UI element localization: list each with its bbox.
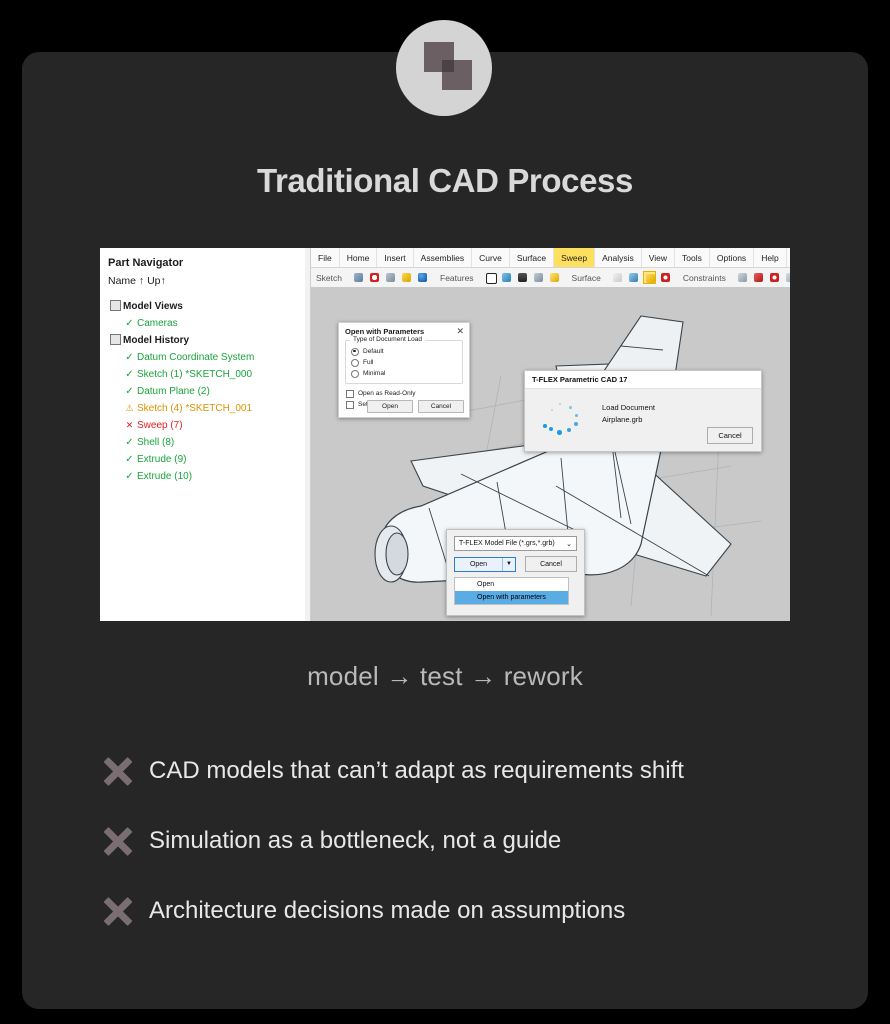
icon-glyph — [502, 273, 511, 282]
list-item-label: Simulation as a bottleneck, not a guide — [149, 827, 561, 855]
open-button-row: Open ▼ Cancel — [454, 556, 577, 572]
toolbar-group-label-surface: Surface — [567, 273, 606, 283]
cad-viewport: FileHomeInsertAssembliesCurveSurfaceSwee… — [311, 248, 790, 621]
radio-label: Full — [363, 359, 373, 366]
checkbox-indicator — [346, 390, 354, 398]
list-item-label: CAD models that can’t adapt as requireme… — [149, 757, 684, 785]
box-icon[interactable] — [484, 271, 497, 284]
menu-item-open[interactable]: Open — [455, 578, 568, 591]
radio-label: Minimal — [363, 370, 385, 377]
cad-ribbon: FileHomeInsertAssembliesCurveSurfaceSwee… — [311, 248, 790, 288]
toolbar-group-label-features: Features — [435, 273, 479, 283]
group-label: Type of Document Load — [350, 336, 425, 343]
icon-glyph — [770, 273, 779, 282]
link-constraint-icon[interactable] — [736, 271, 749, 284]
icon-glyph — [370, 273, 379, 282]
icon-glyph — [534, 273, 543, 282]
page-title: Traditional CAD Process — [0, 162, 890, 200]
radio-label: Default — [363, 348, 384, 355]
overlapping-squares-logo — [396, 20, 492, 116]
check-icon: ✓ — [122, 370, 137, 380]
tflex-loading-dialog: T-FLEX Parametric CAD 17 Load — [524, 370, 762, 452]
warning-icon: ⚠ — [122, 404, 137, 413]
icon-glyph — [386, 273, 395, 282]
tflex-dialog-body: Load Document Airplane.grb Cancel — [525, 389, 761, 451]
open-button[interactable]: Open — [455, 558, 502, 571]
radio-indicator — [351, 348, 359, 356]
cad-screenshot: Part Navigator Name ↑ Up↑ Model Views✓Ca… — [100, 248, 790, 621]
menu-item-curve[interactable]: Curve — [472, 248, 510, 267]
radio-full[interactable]: Full — [351, 357, 457, 368]
revolve-icon[interactable] — [500, 271, 513, 284]
tree-item[interactable]: Model Views — [106, 298, 310, 315]
dialog-buttons: Open Cancel — [367, 400, 464, 413]
menu-item-help[interactable]: Help — [754, 248, 786, 267]
tree-item[interactable]: Model History — [106, 332, 310, 349]
part-navigator-panel: Part Navigator Name ↑ Up↑ Model Views✓Ca… — [100, 248, 311, 621]
slide-stage: Traditional CAD Process Part Navigator N… — [0, 0, 890, 1024]
folder-icon — [108, 300, 123, 314]
icon-glyph — [354, 273, 363, 282]
icon-glyph — [613, 273, 622, 282]
tree-item[interactable]: ✓Extrude (9) — [106, 451, 310, 468]
surface-sheet-icon[interactable] — [611, 271, 624, 284]
open-split-button[interactable]: Open ▼ — [454, 557, 516, 572]
check-icon: ✓ — [122, 438, 137, 448]
tree-item[interactable]: ✓Shell (8) — [106, 434, 310, 451]
icon-glyph — [486, 273, 497, 284]
tree-item-label: Datum Coordinate System — [137, 352, 254, 363]
dialog-title: Open with Parameters — [345, 327, 424, 336]
tree-item-label: Model Views — [123, 301, 183, 312]
fix-constraint-icon[interactable] — [752, 271, 765, 284]
check-icon: ✓ — [122, 319, 137, 329]
sphere-icon[interactable] — [417, 271, 430, 284]
list-item: Architecture decisions made on assumptio… — [99, 876, 799, 946]
radio-minimal[interactable]: Minimal — [351, 368, 457, 379]
checkbox-indicator — [346, 401, 354, 409]
cad-menubar: FileHomeInsertAssembliesCurveSurfaceSwee… — [311, 248, 790, 268]
close-icon[interactable]: ✕ — [456, 327, 464, 336]
tree-item-label: Sweep (7) — [137, 420, 183, 431]
extrude-bar-icon[interactable] — [516, 271, 529, 284]
tree-item-label: Extrude (9) — [137, 454, 186, 465]
menu-item-open-with-parameters[interactable]: Open with parameters — [455, 591, 568, 604]
tree-item-label: Sketch (4) *SKETCH_001 — [137, 403, 252, 414]
bolt-icon[interactable] — [548, 271, 561, 284]
folder-icon — [108, 334, 123, 348]
part-navigator-tree: Model Views✓CamerasModel History✓Datum C… — [106, 298, 310, 485]
menu-item-surface[interactable]: Surface — [510, 248, 554, 267]
x-mark-icon — [99, 752, 137, 790]
open-button[interactable]: Open — [367, 400, 413, 413]
tree-item[interactable]: ✓Datum Coordinate System — [106, 349, 310, 366]
icon-glyph — [661, 273, 670, 282]
tree-item[interactable]: ✓Cameras — [106, 315, 310, 332]
icon-glyph — [738, 273, 747, 282]
menu-item-insert[interactable]: Insert — [377, 248, 413, 267]
x-mark-icon — [99, 822, 137, 860]
tree-item[interactable]: ✕Sweep (7) — [106, 417, 310, 434]
x-mark-icon — [99, 892, 137, 930]
radio-default[interactable]: Default — [351, 346, 457, 357]
check-icon: ✓ — [122, 455, 137, 465]
part-navigator-scrollbar[interactable] — [305, 248, 310, 621]
radio-indicator — [351, 370, 359, 378]
icon-glyph — [786, 273, 790, 282]
cad-toolbar: SketchFeaturesSurfaceConstraintsMo — [311, 268, 790, 288]
ruled-surface-icon[interactable] — [627, 271, 640, 284]
tree-item-label: Sketch (1) *SKETCH_000 — [137, 369, 252, 380]
tree-item[interactable]: ✓Extrude (10) — [106, 468, 310, 485]
tree-item[interactable]: ⚠Sketch (4) *SKETCH_001 — [106, 400, 310, 417]
menu-item-view[interactable]: View — [642, 248, 675, 267]
circle-icon[interactable] — [369, 271, 382, 284]
check-icon: ✓ — [122, 353, 137, 363]
line-icon[interactable] — [385, 271, 398, 284]
loading-spinner-icon — [543, 403, 583, 437]
tree-item-label: Model History — [123, 335, 189, 346]
menu-item-assemblies[interactable]: Assemblies — [414, 248, 472, 267]
check-icon: ✓ — [122, 387, 137, 397]
tree-item-label: Cameras — [137, 318, 178, 329]
list-item: CAD models that can’t adapt as requireme… — [99, 736, 799, 806]
part-navigator-title: Part Navigator — [106, 257, 310, 269]
icon-glyph — [402, 273, 411, 282]
open-with-parameters-dialog: Open with Parameters ✕ Type of Document … — [338, 322, 470, 418]
radio-indicator — [351, 359, 359, 367]
cancel-button[interactable]: Cancel — [418, 400, 464, 413]
file-type-select[interactable]: T-FLEX Model File (*.grs,*.grb) ⌄ — [454, 536, 577, 551]
icon-glyph — [754, 273, 763, 282]
sweep-surface-icon[interactable] — [643, 271, 656, 284]
sketch-angle-icon[interactable] — [353, 271, 366, 284]
icon-glyph — [418, 273, 427, 282]
logo-square-overlap — [442, 60, 454, 72]
part-navigator-sort[interactable]: Name ↑ Up↑ — [106, 269, 310, 287]
toolbar-group-label-sketch: Sketch — [311, 273, 347, 283]
file-type-value: T-FLEX Model File (*.grs,*.grb) — [459, 540, 555, 547]
toolbar-group-label-constraints: Constraints — [678, 273, 731, 283]
bullet-list: CAD models that can’t adapt as requireme… — [99, 736, 799, 946]
chevron-down-icon: ⌄ — [566, 540, 572, 548]
open-dropdown-menu: Open Open with parameters — [454, 577, 569, 605]
tflex-loading-line1: Load Document — [602, 402, 655, 414]
tree-item-label: Datum Plane (2) — [137, 386, 210, 397]
menu-item-analysis[interactable]: Analysis — [595, 248, 642, 267]
pencil-icon[interactable] — [401, 271, 414, 284]
taper-icon[interactable] — [532, 271, 545, 284]
process-flow-text: model → test → rework — [0, 661, 890, 692]
list-item-label: Architecture decisions made on assumptio… — [149, 897, 625, 925]
trim-surface-icon[interactable] — [659, 271, 672, 284]
icon-glyph — [629, 273, 638, 282]
icon-glyph — [550, 273, 559, 282]
checkbox-open-as-read-only[interactable]: Open as Read-Only — [339, 388, 469, 399]
tree-item-label: Extrude (10) — [137, 471, 192, 482]
list-item: Simulation as a bottleneck, not a guide — [99, 806, 799, 876]
open-dropdown-arrow-icon[interactable]: ▼ — [502, 558, 515, 571]
tflex-cancel-button[interactable]: Cancel — [707, 427, 753, 444]
tflex-loading-text: Load Document Airplane.grb — [602, 402, 655, 426]
tflex-loading-line2: Airplane.grb — [602, 414, 655, 426]
tree-item[interactable]: ✓Sketch (1) *SKETCH_000 — [106, 366, 310, 383]
menu-item-tools[interactable]: Tools — [675, 248, 710, 267]
tree-item[interactable]: ✓Datum Plane (2) — [106, 383, 310, 400]
menu-item-sweep[interactable]: Sweep — [554, 248, 595, 267]
error-icon: ✕ — [122, 421, 137, 430]
document-load-group: Type of Document Load Default Full Minim… — [345, 340, 463, 384]
checkbox-label: Open as Read-Only — [358, 390, 415, 397]
menu-item-file[interactable]: File — [311, 248, 340, 267]
ground-constraint-icon[interactable] — [784, 271, 790, 284]
icon-glyph — [646, 274, 655, 283]
menu-item-options[interactable]: Options — [710, 248, 754, 267]
delete-constraint-icon[interactable] — [768, 271, 781, 284]
menu-item-home[interactable]: Home — [340, 248, 378, 267]
icon-glyph — [518, 273, 527, 282]
tree-item-label: Shell (8) — [137, 437, 174, 448]
check-icon: ✓ — [122, 472, 137, 482]
open-file-dialog: T-FLEX Model File (*.grs,*.grb) ⌄ Open ▼… — [446, 529, 585, 616]
cancel-button[interactable]: Cancel — [525, 556, 577, 572]
tflex-dialog-title: T-FLEX Parametric CAD 17 — [525, 371, 761, 389]
